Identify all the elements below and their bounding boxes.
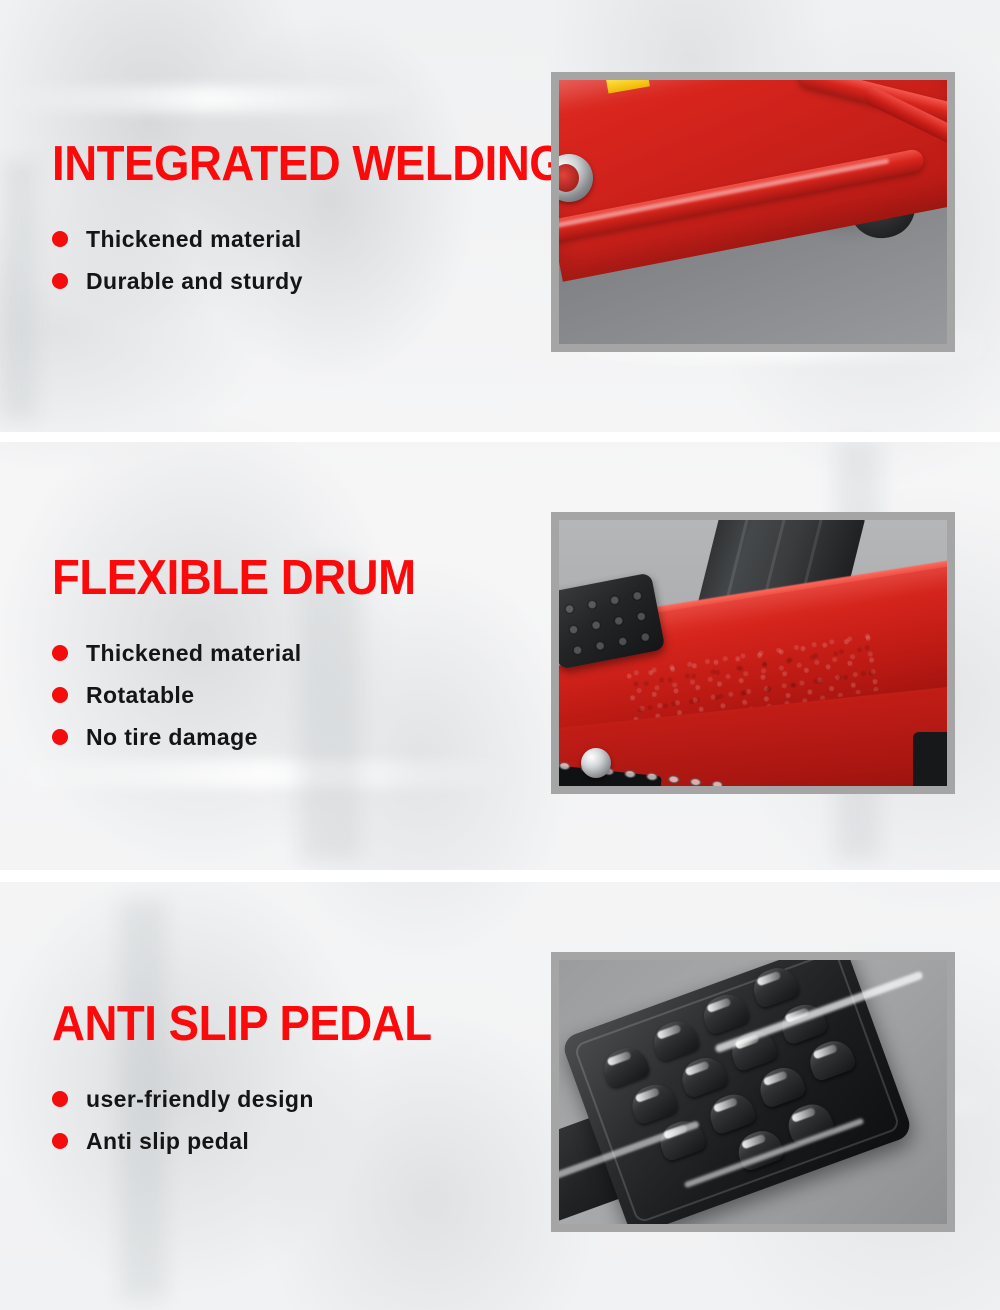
list-item: Rotatable — [52, 674, 522, 716]
panel-divider — [0, 432, 1000, 442]
feature-title: INTEGRATED WELDING — [52, 140, 489, 189]
product-feature-infographic: INTEGRATED WELDING Thickened material Du… — [0, 0, 1000, 1310]
bullet-dot-icon — [52, 231, 68, 247]
feature-text-column: FLEXIBLE DRUM Thickened material Rotatab… — [52, 554, 522, 758]
feature-title: ANTI SLIP PEDAL — [52, 1000, 489, 1049]
pedal-stud — [627, 1079, 680, 1126]
bullet-label: user-friendly design — [86, 1086, 314, 1113]
dark-edge-right — [913, 732, 947, 786]
list-item: Durable and sturdy — [52, 260, 522, 302]
feature-photo-anti-slip-pedal — [551, 952, 955, 1232]
feature-text-column: ANTI SLIP PEDAL user-friendly design Ant… — [52, 1000, 522, 1162]
list-item: Anti slip pedal — [52, 1120, 522, 1162]
photo-inner — [559, 520, 947, 786]
bullet-dot-icon — [52, 1133, 68, 1149]
feature-bullet-list: Thickened material Rotatable No tire dam… — [52, 632, 522, 758]
feature-photo-integrated-welding — [551, 72, 955, 352]
bullet-label: Thickened material — [86, 226, 302, 253]
pedal-stud — [755, 1062, 808, 1109]
pedal-stud — [677, 1052, 730, 1099]
bullet-dot-icon — [52, 273, 68, 289]
feature-photo-flexible-drum — [551, 512, 955, 794]
feature-bullet-list: user-friendly design Anti slip pedal — [52, 1078, 522, 1162]
pedal-studs — [559, 582, 656, 660]
pedal-stud — [705, 1089, 758, 1136]
list-item: user-friendly design — [52, 1078, 522, 1120]
bullet-label: Rotatable — [86, 682, 194, 709]
bullet-dot-icon — [52, 729, 68, 745]
photo-inner — [559, 960, 947, 1224]
bullet-label: Thickened material — [86, 640, 302, 667]
feature-panel-flexible-drum: FLEXIBLE DRUM Thickened material Rotatab… — [0, 442, 1000, 870]
bullet-label: No tire damage — [86, 724, 258, 751]
list-item: Thickened material — [52, 632, 522, 674]
bullet-dot-icon — [52, 687, 68, 703]
feature-bullet-list: Thickened material Durable and sturdy — [52, 218, 522, 302]
photo-inner — [559, 80, 947, 344]
list-item: No tire damage — [52, 716, 522, 758]
bullet-label: Durable and sturdy — [86, 268, 303, 295]
bullet-dot-icon — [52, 1091, 68, 1107]
bullet-label: Anti slip pedal — [86, 1128, 249, 1155]
pedal-stud — [805, 1036, 858, 1083]
feature-title: FLEXIBLE DRUM — [52, 554, 489, 603]
feature-panel-integrated-welding: INTEGRATED WELDING Thickened material Du… — [0, 0, 1000, 432]
panel-divider — [0, 870, 1000, 882]
feature-text-column: INTEGRATED WELDING Thickened material Du… — [52, 140, 522, 302]
feature-panel-anti-slip-pedal: ANTI SLIP PEDAL user-friendly design Ant… — [0, 882, 1000, 1310]
list-item: Thickened material — [52, 218, 522, 260]
chrome-bolt — [581, 748, 611, 778]
bullet-dot-icon — [52, 645, 68, 661]
